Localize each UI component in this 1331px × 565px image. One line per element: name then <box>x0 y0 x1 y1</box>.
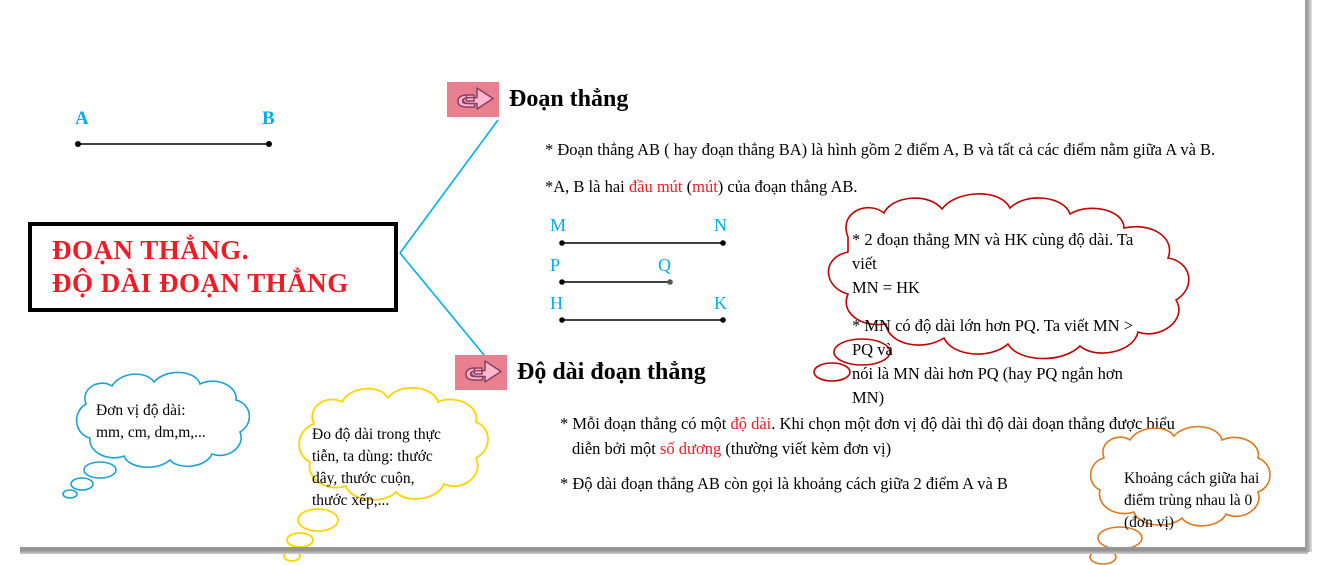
cloud-line: tiễn, ta dùng: thước <box>312 446 492 468</box>
bullet-text: ( <box>683 177 693 196</box>
point-label-q: Q <box>658 255 671 276</box>
bullet-do-dai-1: * Mỗi đoạn thẳng có một độ dài. Khi chọn… <box>560 412 1182 462</box>
page-title: ĐOẠN THẲNG. ĐỘ DÀI ĐOẠN THẲNG <box>28 222 398 312</box>
cloud-line: thước xếp,... <box>312 490 492 512</box>
yellow-cloud-text: Đo độ dài trong thực tiễn, ta dùng: thướ… <box>312 424 492 512</box>
cloud-line: điểm trùng nhau là 0 <box>1124 490 1314 512</box>
curved-arrow-icon <box>447 82 499 117</box>
segments-mn-pq-hk-diagram: M N P Q H K <box>548 215 748 330</box>
bullet-do-dai-2: * Độ dài đoạn thẳng AB còn gọi là khoảng… <box>560 472 1140 497</box>
cloud-line-spacer <box>852 300 1152 314</box>
point-label-a: A <box>75 108 89 130</box>
point-label-b: B <box>262 108 275 130</box>
bullet-text: ) của đoạn thẳng AB. <box>718 177 858 196</box>
cloud-line: Khoảng cách giữa hai <box>1124 468 1314 490</box>
cloud-line: nói là MN dài hơn PQ (hay PQ ngắn hơn MN… <box>852 362 1152 410</box>
point-label-k: K <box>714 293 727 314</box>
cloud-line: dây, thước cuộn, <box>312 468 492 490</box>
bullet-text: * Đoạn thẳng AB ( hay đoạn thẳng BA) là … <box>545 140 1215 159</box>
bullet-text: * Độ dài đoạn thẳng AB còn gọi là khoảng… <box>560 474 1008 493</box>
blue-cloud-text: Đơn vị độ dài: mm, cm, dm,m,... <box>96 400 266 444</box>
bullet-text-emphasis: mút <box>692 177 718 196</box>
point-label-h: H <box>550 293 563 314</box>
cloud-line: MN = HK <box>852 276 1152 300</box>
bullet-text: (thường viết kèm đơn vị) <box>721 439 891 458</box>
red-cloud-text: * 2 đoạn thẳng MN và HK cùng độ dài. Ta … <box>852 228 1152 409</box>
bullet-doan-thang-2: *A, B là hai đầu mút (mút) của đoạn thẳn… <box>545 175 1245 200</box>
section-heading-doan-thang: Đoạn thẳng <box>447 82 628 117</box>
page-title-line-2: ĐỘ DÀI ĐOẠN THẲNG <box>52 267 394 300</box>
point-label-n: N <box>714 215 727 236</box>
slide-outside-right <box>1312 0 1331 565</box>
bullet-text-emphasis: đầu mút <box>629 177 683 196</box>
bullet-text-emphasis: độ dài <box>730 414 771 433</box>
bullet-text: * Mỗi đoạn thẳng có một <box>560 414 730 433</box>
page-title-line-1: ĐOẠN THẲNG. <box>52 234 394 267</box>
cloud-line: * 2 đoạn thẳng MN và HK cùng độ dài. Ta … <box>852 228 1152 276</box>
slide-frame-right <box>1305 0 1312 552</box>
curved-arrow-icon <box>455 355 507 390</box>
bullet-text-emphasis: số dương <box>660 439 721 458</box>
segment-ab-diagram: A B <box>70 108 285 153</box>
slide-canvas: A B ĐOẠN THẲNG. ĐỘ DÀI ĐOẠN THẲNG Đoạn t… <box>0 0 1331 565</box>
bullet-doan-thang-1: * Đoạn thẳng AB ( hay đoạn thẳng BA) là … <box>545 138 1310 163</box>
orange-cloud-text: Khoảng cách giữa hai điểm trùng nhau là … <box>1124 468 1314 534</box>
point-label-p: P <box>550 255 560 276</box>
bullet-text: *A, B là hai <box>545 177 629 196</box>
section-heading-label: Độ dài đoạn thẳng <box>517 359 706 386</box>
slide-frame-bottom <box>20 547 1308 554</box>
cloud-line: Đo độ dài trong thực <box>312 424 492 446</box>
cloud-line: mm, cm, dm,m,... <box>96 422 266 444</box>
cloud-line: * MN có độ dài lớn hơn PQ. Ta viết MN > … <box>852 314 1152 362</box>
section-heading-do-dai-doan-thang: Độ dài đoạn thẳng <box>455 355 706 390</box>
cloud-line: (đơn vị) <box>1124 512 1314 534</box>
cloud-line: Đơn vị độ dài: <box>96 400 266 422</box>
segment-ab-line <box>70 108 285 153</box>
section-heading-label: Đoạn thẳng <box>509 86 628 113</box>
point-label-m: M <box>550 215 566 236</box>
